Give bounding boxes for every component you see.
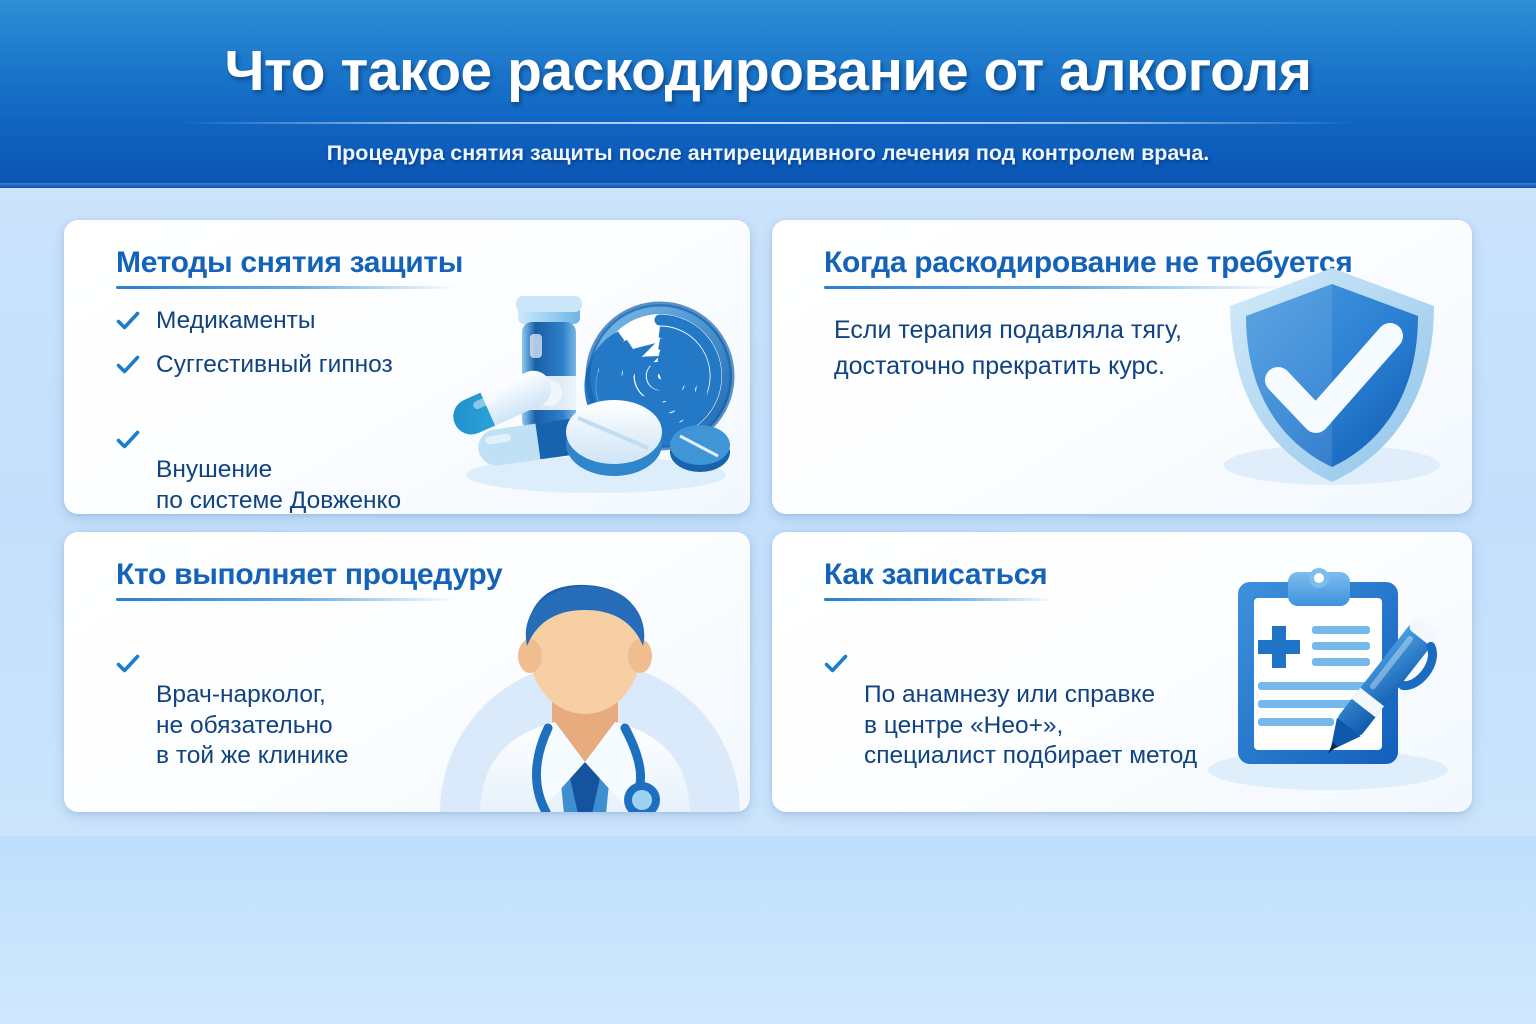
card-bullet-list: По анамнезу или справке в центре «Нео+»,… xyxy=(824,618,1294,785)
infographic-poster: Что такое раскодирование от алкоголя Про… xyxy=(0,0,1536,1024)
poster-footer: Безопасное и контролируемое снятие блока… xyxy=(0,836,1536,1024)
check-icon xyxy=(116,310,140,332)
list-item-label: Суггестивный гипноз xyxy=(156,351,393,378)
list-item: Врач-нарколог, не обязательно в той же к… xyxy=(116,618,516,772)
list-item: По анамнезу или справке в центре «Нео+»,… xyxy=(824,618,1294,772)
card-bullet-list: Медикаменты Суггестивный гипноз xyxy=(116,306,516,514)
page-title: Что такое раскодирование от алкоголя xyxy=(0,38,1536,104)
card-kak-zapisatsya: Как записаться По анамнезу или справке в… xyxy=(772,532,1472,812)
shield-check-icon xyxy=(1212,260,1452,496)
list-item-label: Медикаменты xyxy=(156,307,315,334)
card-title-underline xyxy=(824,598,1054,601)
card-bullet-list: Врач-нарколог, не обязательно в той же к… xyxy=(116,618,516,785)
card-kto-vypolnyaet-proceduru: Кто выполняет процедуру Врач-нарколог, н… xyxy=(64,532,750,812)
header-divider xyxy=(180,122,1356,124)
card-title-underline xyxy=(116,286,456,289)
card-title: Как записаться xyxy=(824,558,1047,592)
list-item: Внушение по системе Довженко xyxy=(116,394,516,514)
list-item-label: По анамнезу или справке в центре «Нео+»,… xyxy=(864,681,1197,770)
card-title: Методы снятия защиты xyxy=(116,246,463,280)
list-item-label: Врач-нарколог, не обязательно в той же к… xyxy=(156,681,349,770)
check-icon xyxy=(116,622,140,644)
card-paragraph: Если терапия подавляла тягу, достаточно … xyxy=(834,312,1182,385)
check-icon xyxy=(116,354,140,376)
card-title-underline xyxy=(824,286,1284,289)
cards-stage: Методы снятия защиты Медикаменты xyxy=(0,188,1536,836)
card-title: Кто выполняет процедуру xyxy=(116,558,502,592)
poster-header: Что такое раскодирование от алкоголя Про… xyxy=(0,0,1536,188)
list-item: Суггестивный гипноз xyxy=(116,350,516,381)
page-subtitle: Процедура снятия защиты после антирециди… xyxy=(0,141,1536,166)
card-metody-snyatiya-zashchity: Методы снятия защиты Медикаменты xyxy=(64,220,750,514)
card-kogda-ne-trebuetsya: Когда раскодирование не требуется Если т… xyxy=(772,220,1472,514)
list-item: Медикаменты xyxy=(116,306,516,337)
check-icon xyxy=(824,622,848,644)
card-title-underline xyxy=(116,598,456,601)
card-title: Когда раскодирование не требуется xyxy=(824,246,1353,280)
list-item-label: Внушение по системе Довженко xyxy=(156,456,401,514)
check-icon xyxy=(116,398,140,420)
